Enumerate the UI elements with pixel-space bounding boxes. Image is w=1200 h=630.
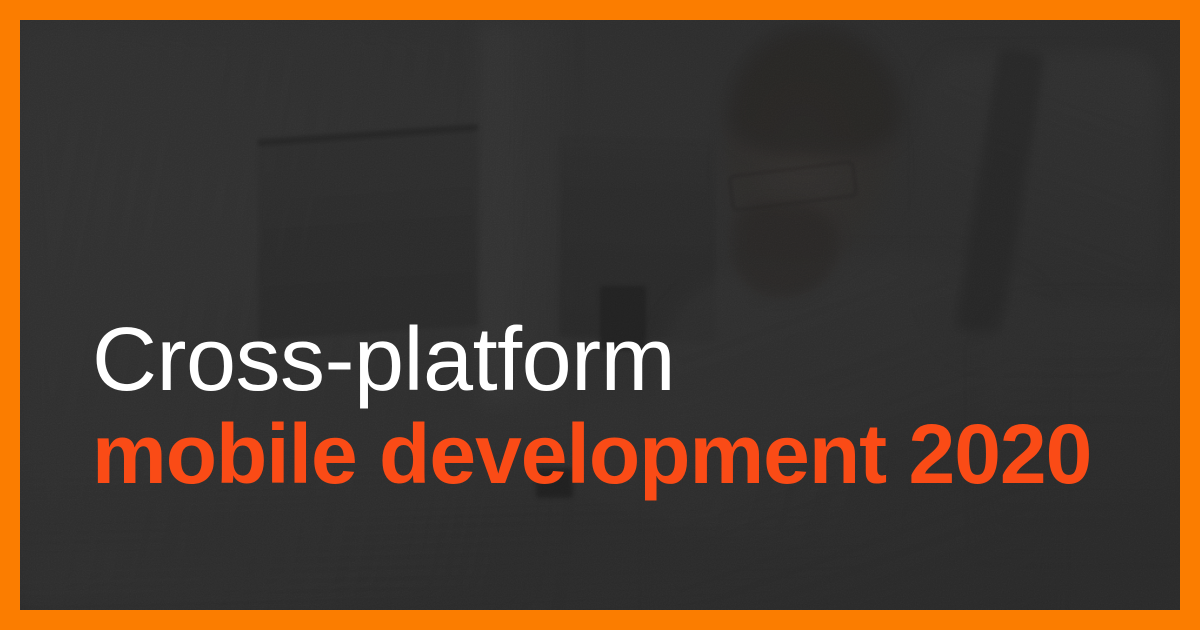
banner-photo-stage: Cross-platform mobile development 2020 [20,20,1180,610]
social-share-banner: Cross-platform mobile development 2020 [0,0,1200,630]
photo-background [20,20,1180,610]
